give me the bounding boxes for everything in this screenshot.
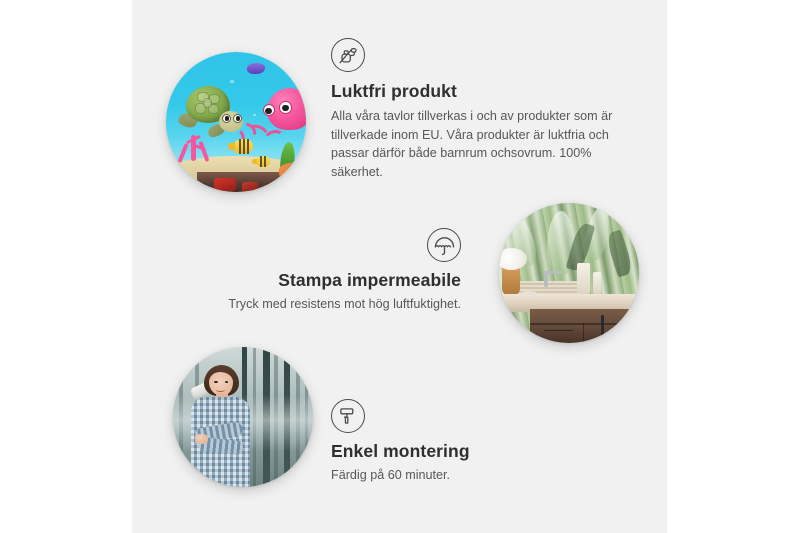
woman-hand <box>195 434 208 444</box>
feature-block-waterproof: Stampa impermeabile Tryck med resistens … <box>180 228 461 314</box>
underwater-cartoon-circle-image <box>166 52 306 192</box>
yellow-fish-icon <box>233 139 253 154</box>
yellow-fish-icon <box>256 156 270 167</box>
toiletry-bottle <box>577 263 590 294</box>
coral <box>177 135 219 171</box>
product-feature-infographic: Luktfri produkt Alla våra tavlor tillver… <box>0 0 800 533</box>
umbrella-icon <box>427 228 461 262</box>
paint-roller-icon <box>331 399 365 433</box>
woman-paint-roller-circle-image <box>173 347 313 487</box>
sea-red-object <box>242 182 259 192</box>
feature-description: Färdig på 60 minuter. <box>331 466 581 485</box>
toiletry-bottle <box>593 272 601 294</box>
feature-description: Tryck med resistens mot hög luftfuktighe… <box>180 295 461 314</box>
bubble-icon <box>253 114 256 117</box>
feature-block-odourless: Luktfri produkt Alla våra tavlor tillver… <box>331 38 623 181</box>
feature-title: Enkel montering <box>331 441 581 463</box>
bathroom-wallpaper-circle-image <box>499 203 639 343</box>
sea-red-object <box>214 178 236 191</box>
feature-title: Luktfri produkt <box>331 81 623 103</box>
feature-description: Alla våra tavlor tillverkas i och av pro… <box>331 107 623 182</box>
faucet <box>544 271 562 275</box>
no-fragrance-icon <box>331 38 365 72</box>
feature-title: Stampa impermeabile <box>180 270 461 292</box>
wooden-vanity-cabinet <box>530 309 639 343</box>
feature-block-assembly: Enkel montering Färdig på 60 minuter. <box>331 399 581 485</box>
